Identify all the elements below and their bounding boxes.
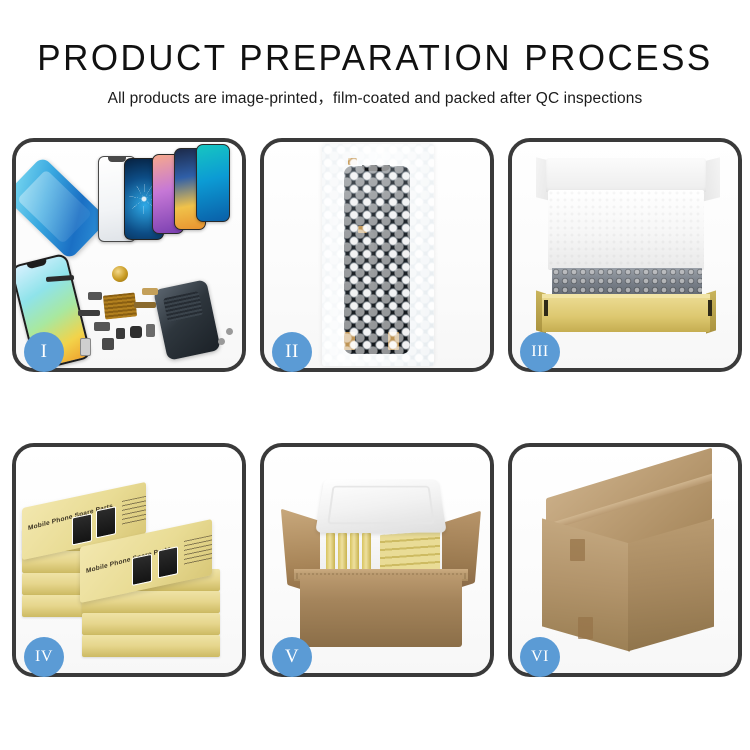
step-badge-1: I [24,332,64,372]
phone-back-housing [153,279,221,361]
page-subtitle: All products are image-printed，film-coat… [0,88,750,110]
carton-tape-tab [578,617,593,639]
process-step-panel-5[interactable]: V [260,443,494,677]
small-part [226,328,233,335]
carton-right-face [628,519,714,652]
process-step-panel-2[interactable]: II [260,138,494,372]
page-header: PRODUCT PREPARATION PROCESS All products… [0,0,750,110]
step-badge-5: V [272,637,312,677]
phone-display-teal [196,144,230,222]
box-notch [708,300,712,316]
bubble-texture-highlight [322,144,434,366]
small-part [134,302,156,308]
page-title: PRODUCT PREPARATION PROCESS [11,38,739,78]
process-step-panel-3[interactable]: III [508,138,742,372]
step-numeral: IV [35,648,53,666]
box-product-thumbnail [96,506,116,538]
box-front-panel [542,298,710,332]
retail-box [82,613,220,635]
small-part [78,310,100,316]
step-badge-2: II [272,332,312,372]
box-lid-back [546,158,706,192]
step-badge-6: VI [520,637,560,677]
box-product-thumbnail [158,546,178,578]
foam-cooler-lid [315,479,447,532]
small-part [142,288,158,295]
small-part [80,338,91,356]
step-numeral: II [285,341,299,363]
carton-body [300,575,462,647]
contact-pad-grid [103,292,137,319]
box-spec-lines [184,532,212,567]
retail-box [82,635,220,657]
step-badge-3: III [520,332,560,372]
small-part [102,338,114,350]
white-foam-sheet [548,190,704,270]
blue-protective-film [16,156,109,260]
step-numeral: V [285,646,299,668]
step-numeral: I [41,341,48,363]
small-part [88,292,102,300]
step-numeral: III [531,343,548,361]
speaker-coil-part [112,266,128,282]
small-part [146,324,155,337]
process-step-panel-6[interactable]: VI [508,443,742,677]
small-part [218,338,225,345]
step-badge-4: IV [24,637,64,677]
step-numeral: VI [531,648,549,666]
box-product-thumbnail [72,513,92,545]
box-product-thumbnail [132,554,152,586]
carton-tape-tab [570,539,585,561]
box-notch [544,300,548,316]
box-spec-lines [122,492,146,527]
process-step-panel-4[interactable]: Mobile Phone Spare Parts Mobile Phone Sp… [12,443,246,677]
process-step-grid: I II [0,138,750,679]
bubble-wrap-bag [322,144,434,366]
small-part [130,326,142,338]
small-part [94,322,110,331]
process-step-panel-1[interactable]: I [12,138,246,372]
small-part [116,328,125,339]
